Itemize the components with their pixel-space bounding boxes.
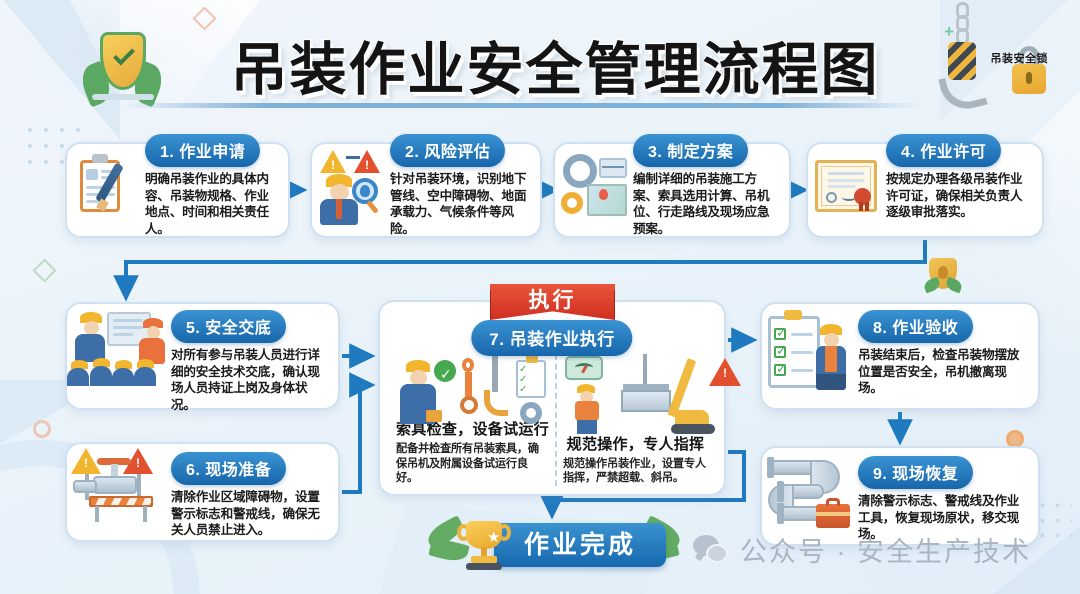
step-5-desc: 对所有参与吊装人员进行详细的安全技术交底，确认现场人员持证上岗及身体状况。 bbox=[171, 347, 330, 414]
wechat-icon bbox=[693, 535, 731, 565]
step-5-title: 5. 安全交底 bbox=[171, 310, 286, 343]
step-card-2[interactable]: 2. 风险评估 针对吊装环境，识别地下管线、空中障碍物、地面承载力、气候条件等风… bbox=[310, 142, 542, 238]
page-title: 吊装作业安全管理流程图 bbox=[205, 24, 905, 106]
decor-shield-icon bbox=[926, 258, 960, 296]
inspector-magnifier-warning-icon bbox=[312, 144, 390, 236]
certificate-seal-icon bbox=[808, 144, 886, 236]
rigging-check-icon: ✓ ✓ ✓ ✓ bbox=[396, 354, 549, 416]
trophy-icon: ★ bbox=[456, 519, 512, 571]
step-card-6[interactable]: 6. 现场准备 清除作业区域障碍物，设置警示标志和警戒线，确保无关人员禁止进入。 bbox=[65, 442, 340, 542]
crane-operation-icon bbox=[563, 354, 708, 431]
step-2-title: 2. 风险评估 bbox=[390, 134, 505, 167]
step-card-3[interactable]: 3. 制定方案 编制详细的吊装施工方案、索具选用计算、吊机位、行走路线及现场应急… bbox=[553, 142, 791, 238]
safety-briefing-icon bbox=[67, 304, 171, 408]
step-8-title: 8. 作业验收 bbox=[858, 310, 973, 343]
gears-map-icon bbox=[555, 144, 633, 236]
decor-diamond-green-icon bbox=[32, 258, 56, 282]
finish-label: 作业完成 bbox=[494, 523, 666, 567]
step-7-title: 7. 吊装作业执行 bbox=[471, 320, 632, 356]
step-7-item-2-desc: 规范操作吊装作业，设置专人指挥，严禁超载、斜吊。 bbox=[563, 457, 708, 486]
crane-hook-lock-icon: 吊装安全锁 bbox=[930, 2, 1050, 114]
step-1-title: 1. 作业申请 bbox=[145, 134, 260, 167]
step-4-desc: 按规定办理各级吊装作业许可证，确保相关负责人逐级审批落实。 bbox=[886, 171, 1034, 221]
step-1-desc: 明确吊装作业的具体内容、吊装物规格、作业地点、时间和相关责任人。 bbox=[145, 171, 280, 238]
step-6-desc: 清除作业区域障碍物，设置警示标志和警戒线，确保无关人员禁止进入。 bbox=[171, 489, 330, 539]
step-7-item-1-desc: 配备并检查所有吊装索具，确保吊机及附属设备试运行良好。 bbox=[396, 442, 549, 486]
step-9-title: 9. 现场恢复 bbox=[858, 456, 973, 489]
watermark: 公众号 · 安全生产技术 bbox=[693, 530, 1031, 569]
step-3-title: 3. 制定方案 bbox=[633, 134, 748, 167]
checklist-inspector-icon: ✓ ✓ ✓ bbox=[762, 304, 858, 408]
title-underline bbox=[122, 103, 922, 108]
step-card-1[interactable]: 1. 作业申请 明确吊装作业的具体内容、吊装物规格、作业地点、时间和相关责任人。 bbox=[65, 142, 290, 238]
step-card-8[interactable]: ✓ ✓ ✓ 8. 作业验收 吊装结束后，检查吊装物摆放位置是否 bbox=[760, 302, 1040, 410]
step-7-item-1[interactable]: ✓ ✓ ✓ ✓ 索具检查，设备试运行 配备并检查 bbox=[390, 354, 555, 486]
clipboard-pen-icon bbox=[67, 144, 145, 236]
step-card-7[interactable]: 7. 吊装作业执行 ✓ bbox=[378, 300, 726, 496]
step-4-title: 4. 作业许可 bbox=[886, 134, 1001, 167]
finish-badge: 作业完成 ★ bbox=[432, 519, 668, 571]
watermark-text: 公众号 · 安全生产技术 bbox=[740, 530, 1031, 569]
step-3-desc: 编制详细的吊装施工方案、索具选用计算、吊机位、行走路线及现场应急预案。 bbox=[633, 171, 781, 238]
barrier-warning-icon bbox=[67, 444, 171, 540]
flowchart-canvas: + 吊装作业安全管理流程图 吊装安全锁 bbox=[0, 0, 1080, 594]
page-header: 吊装作业安全管理流程图 吊装安全锁 bbox=[0, 0, 1080, 120]
step-card-5[interactable]: 5. 安全交底 对所有参与吊装人员进行详细的安全技术交底，确认现场人员持证上岗及… bbox=[65, 302, 340, 410]
step-card-4[interactable]: 4. 作业许可 按规定办理各级吊装作业许可证，确保相关负责人逐级审批落实。 bbox=[806, 142, 1044, 238]
step-7-item-2[interactable]: 规范操作，专人指挥 规范操作吊装作业，设置专人指挥，严禁超载、斜吊。 bbox=[555, 354, 714, 486]
step-8-desc: 吊装结束后，检查吊装物摆放位置是否安全，吊机撤离现场。 bbox=[858, 347, 1030, 397]
step-7-item-2-heading: 规范操作，专人指挥 bbox=[567, 433, 705, 454]
hook-label: 吊装安全锁 bbox=[991, 50, 1049, 66]
step-6-title: 6. 现场准备 bbox=[171, 452, 286, 485]
shield-check-icon bbox=[86, 28, 158, 108]
step-2-desc: 针对吊装环境，识别地下管线、空中障碍物、地面承载力、气候条件等风险。 bbox=[390, 171, 532, 238]
decor-ring-orange-icon bbox=[33, 420, 51, 438]
